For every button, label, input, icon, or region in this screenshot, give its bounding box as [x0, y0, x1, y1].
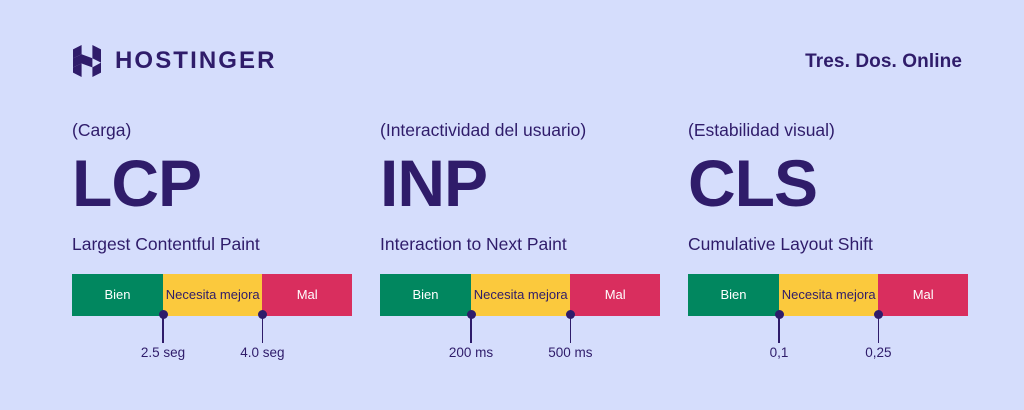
threshold-label: 200 ms — [449, 346, 493, 360]
threshold-stem-icon — [162, 317, 164, 343]
rating-segment-good: Bien — [380, 274, 471, 316]
rating-segment-good: Bien — [72, 274, 163, 316]
rating-bar-container: Bien Necesita mejora Mal 0,1 0,25 — [688, 274, 968, 316]
rating-segment-needs-improvement: Necesita mejora — [163, 274, 262, 316]
rating-segment-needs-improvement: Necesita mejora — [779, 274, 878, 316]
threshold-label: 0,1 — [770, 346, 789, 360]
metric-category: (Interactividad del usuario) — [380, 120, 660, 144]
threshold-label: 0,25 — [865, 346, 891, 360]
threshold-label: 2.5 seg — [141, 346, 185, 360]
threshold-label: 500 ms — [548, 346, 592, 360]
metric-abbreviation: CLS — [688, 150, 968, 216]
rating-bar: Bien Necesita mejora Mal — [380, 274, 660, 316]
threshold-stem-icon — [778, 317, 780, 343]
metric-abbreviation: INP — [380, 150, 660, 216]
rating-bar-container: Bien Necesita mejora Mal 200 ms 500 ms — [380, 274, 660, 316]
site-name-text: Tres. Dos. Online — [805, 52, 962, 71]
metric-category: (Estabilidad visual) — [688, 120, 968, 144]
rating-segment-poor: Mal — [878, 274, 968, 316]
page-header: HOSTINGER Tres. Dos. Online — [72, 40, 962, 82]
rating-segment-poor: Mal — [570, 274, 660, 316]
metric-full-name: Cumulative Layout Shift — [688, 234, 968, 256]
rating-bar: Bien Necesita mejora Mal — [72, 274, 352, 316]
brand-name-text: HOSTINGER — [115, 49, 277, 73]
threshold-stem-icon — [878, 317, 880, 343]
metric-category: (Carga) — [72, 120, 352, 144]
rating-bar-container: Bien Necesita mejora Mal 2.5 seg 4.0 seg — [72, 274, 352, 316]
rating-segment-poor: Mal — [262, 274, 352, 316]
metric-full-name: Interaction to Next Paint — [380, 234, 660, 256]
threshold-label: 4.0 seg — [240, 346, 284, 360]
metric-card-cls: (Estabilidad visual) CLS Cumulative Layo… — [688, 120, 968, 316]
threshold-stem-icon — [570, 317, 572, 343]
threshold-stem-icon — [262, 317, 264, 343]
hostinger-h-mark-icon — [72, 45, 102, 77]
rating-segment-good: Bien — [688, 274, 779, 316]
metric-abbreviation: LCP — [72, 150, 352, 216]
metrics-row: (Carga) LCP Largest Contentful Paint Bie… — [72, 120, 968, 316]
threshold-stem-icon — [470, 317, 472, 343]
brand-logo[interactable]: HOSTINGER — [72, 45, 277, 77]
metric-card-lcp: (Carga) LCP Largest Contentful Paint Bie… — [72, 120, 352, 316]
rating-segment-needs-improvement: Necesita mejora — [471, 274, 570, 316]
rating-bar: Bien Necesita mejora Mal — [688, 274, 968, 316]
metric-card-inp: (Interactividad del usuario) INP Interac… — [380, 120, 660, 316]
metric-full-name: Largest Contentful Paint — [72, 234, 352, 256]
